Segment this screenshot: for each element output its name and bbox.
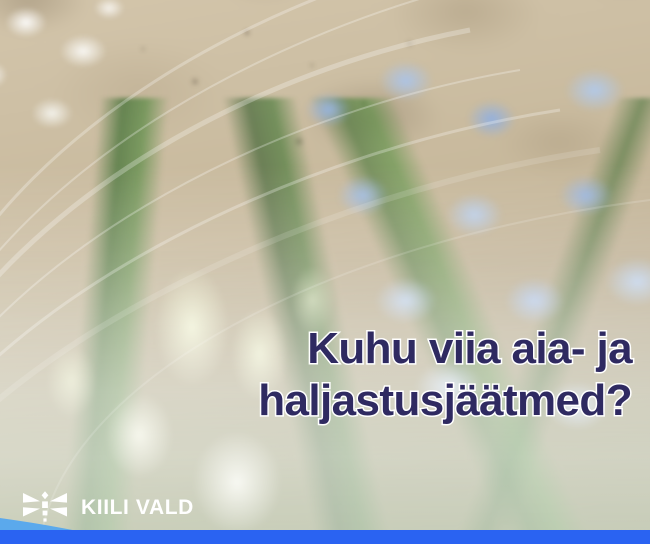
photo-blur-layer xyxy=(0,0,650,544)
kiili-vald-dragonfly-logo-icon xyxy=(22,488,68,526)
logo-wordmark: KIILI VALD xyxy=(81,497,194,518)
page-title: Kuhu viia aia- ja haljastusjäätmed? xyxy=(0,323,632,427)
site-logo[interactable]: KIILI VALD xyxy=(22,488,194,526)
background-photo xyxy=(0,0,650,544)
banner: Kuhu viia aia- ja haljastusjäätmed? KIIL… xyxy=(0,0,650,544)
